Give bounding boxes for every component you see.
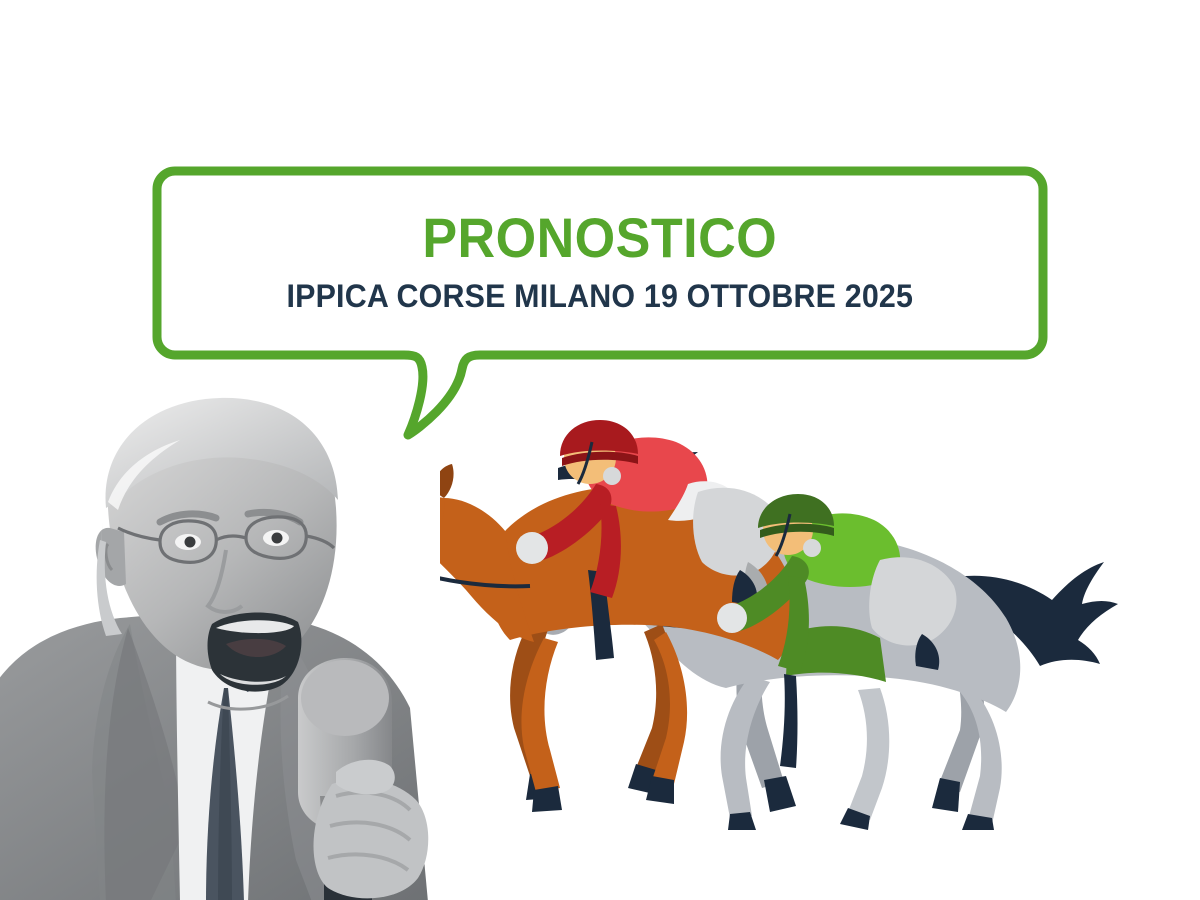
horse-race-illustration [440, 420, 1120, 830]
commentator-photo [0, 392, 480, 900]
horse-race-graphic [440, 420, 1120, 830]
poster-canvas: PRONOSTICO IPPICA CORSE MILANO 19 OTTOBR… [0, 0, 1200, 900]
red-jockey-glove [516, 532, 548, 564]
commentator-illustration [0, 392, 480, 900]
green-jockey-glove [717, 603, 747, 633]
mouth [208, 612, 302, 691]
